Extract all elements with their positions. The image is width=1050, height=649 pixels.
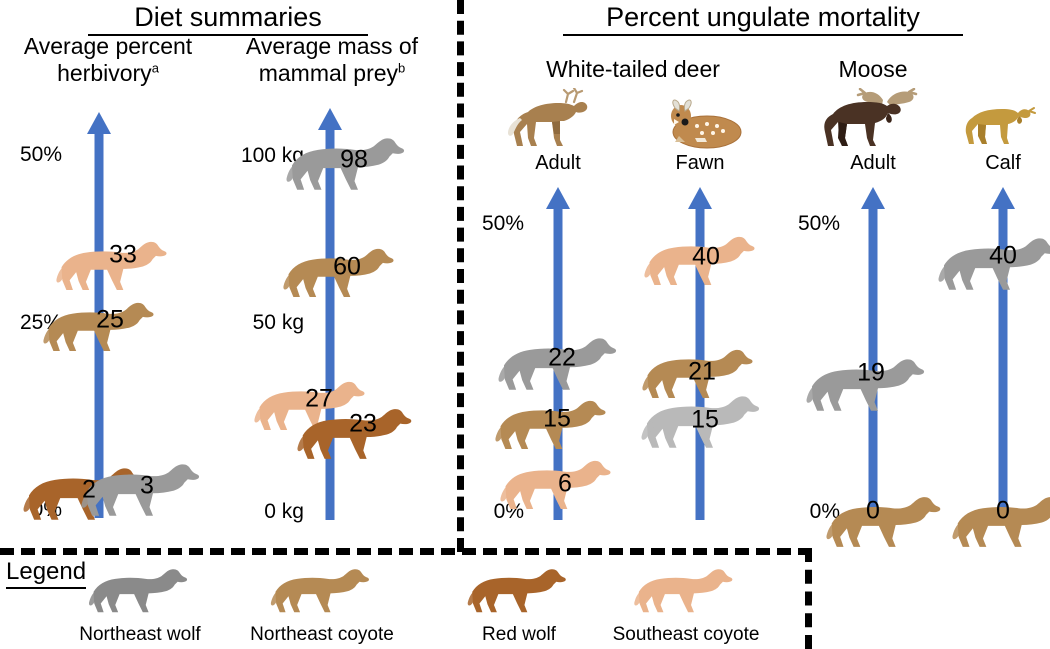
moose-calf-icon: [958, 100, 1048, 150]
legend-item-red-wolf: Red wolf: [461, 560, 577, 646]
value-moose-adult-ne-coyote: 0: [866, 499, 880, 524]
value-deer-adult-ne-coyote: 15: [543, 407, 571, 432]
icon-caption-deer-fawn: Fawn: [645, 152, 755, 175]
value-moose-calf-ne-wolf: 40: [989, 244, 1017, 269]
value-deer-fawn-ne-coyote: 21: [688, 360, 716, 385]
axis-tick-herbivory-50: 50%: [0, 143, 62, 167]
value-prey-ne-coyote: 60: [333, 255, 361, 280]
panel-divider-vertical: [457, 0, 464, 552]
legend-title: Legend: [6, 558, 86, 589]
value-herbivory-ne-wolf: 3: [140, 474, 154, 499]
panel-title-diet-summaries: Diet summaries: [88, 2, 368, 36]
southeast-coyote-icon: [628, 560, 744, 618]
northeast-coyote-icon: [264, 560, 380, 618]
northeast-wolf-icon: [82, 560, 198, 618]
value-prey-se-coyote: 27: [305, 387, 333, 412]
group-title-white-tailed-deer: White-tailed deer: [508, 56, 758, 83]
icon-caption-moose-calf: Calf: [958, 152, 1048, 175]
white-tailed-deer-fawn-icon: [645, 92, 755, 150]
legend-item-northeast-wolf: Northeast wolf: [79, 560, 200, 646]
value-moose-calf-ne-coyote: 0: [996, 499, 1010, 524]
canid-marker-ne-coyote-moose-adult: [825, 486, 947, 554]
icon-group-moose-calf: [958, 100, 1048, 155]
legend-item-southeast-coyote: Southeast coyote: [613, 560, 760, 646]
icon-caption-deer-adult: Adult: [498, 152, 618, 175]
chart-title-prey-mass-superscript: b: [398, 60, 405, 75]
value-herbivory-red-wolf: 2: [82, 478, 96, 503]
moose-adult-icon: [813, 88, 933, 150]
value-moose-adult-ne-wolf: 19: [857, 361, 885, 386]
chart-title-prey-mass-line2: mammal prey: [259, 60, 398, 86]
chart-title-prey-mass-line1: Average mass of: [246, 33, 418, 59]
value-herbivory-se-coyote: 33: [109, 243, 137, 268]
value-deer-fawn-se-coyote: 40: [692, 245, 720, 270]
chart-title-herbivory: Average percent herbivorya: [8, 33, 208, 87]
legend-divider-right: [805, 548, 812, 649]
chart-title-prey-mass: Average mass of mammal preyb: [232, 33, 432, 87]
legend-label-southeast-coyote: Southeast coyote: [613, 624, 760, 646]
group-title-moose: Moose: [793, 56, 953, 83]
axis-tick-moose-50: 50%: [778, 212, 840, 236]
white-tailed-deer-adult-icon: [498, 88, 618, 150]
value-prey-red-wolf: 23: [349, 412, 377, 437]
legend-label-northeast-coyote: Northeast coyote: [250, 624, 394, 646]
legend-divider-horizontal: [0, 548, 812, 555]
figure-canvas: Diet summaries Percent ungulate mortalit…: [0, 0, 1050, 649]
chart-title-herbivory-line2: herbivory: [57, 60, 152, 86]
icon-group-deer-fawn: [645, 92, 755, 155]
value-prey-ne-wolf: 98: [340, 148, 368, 173]
value-deer-adult-ne-wolf: 22: [548, 346, 576, 371]
chart-title-herbivory-superscript: a: [152, 60, 159, 75]
icon-group-moose-adult: [813, 88, 933, 155]
legend-label-northeast-wolf: Northeast wolf: [79, 624, 200, 646]
axis-tick-prey-0kg: 0 kg: [232, 500, 304, 524]
value-herbivory-ne-coyote: 25: [96, 308, 124, 333]
panel-title-ungulate-mortality: Percent ungulate mortality: [563, 2, 963, 36]
chart-title-herbivory-line1: Average percent: [24, 33, 192, 59]
value-deer-adult-se-coyote: 6: [558, 472, 572, 497]
legend-label-red-wolf: Red wolf: [461, 624, 577, 646]
axis-tick-prey-50kg: 50 kg: [232, 311, 304, 335]
legend-item-northeast-coyote: Northeast coyote: [250, 560, 394, 646]
icon-caption-moose-adult: Adult: [813, 152, 933, 175]
value-deer-fawn-ne-wolf: 15: [691, 408, 719, 433]
red-wolf-icon: [461, 560, 577, 618]
axis-tick-deer-50: 50%: [462, 212, 524, 236]
icon-group-deer-adult: [498, 88, 618, 155]
